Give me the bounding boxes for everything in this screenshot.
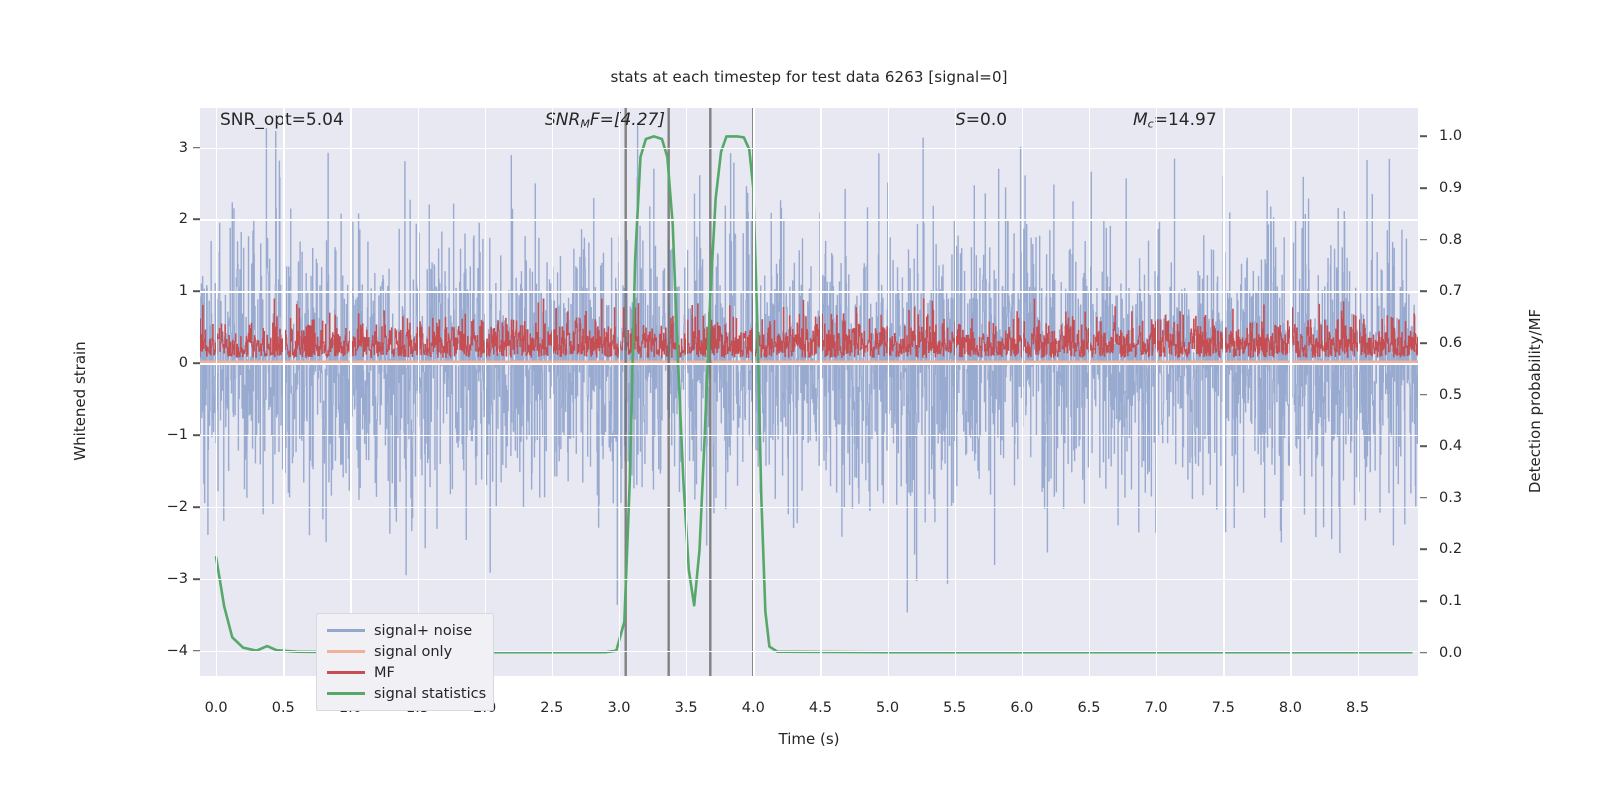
gridline-vertical [1156,108,1157,676]
x-axis-tick-label: 5.5 [943,700,966,716]
legend-swatch [327,629,365,631]
gridline-vertical [753,108,754,676]
x-axis-tick-label: 3.5 [675,700,698,716]
gridline-horizontal [200,219,1418,220]
x-axis-tick-label: 6.0 [1010,700,1033,716]
y-axis-right-tick-label: 0.8 [1439,232,1499,248]
y-axis-right-tick-label: 0.5 [1439,387,1499,403]
gridline-horizontal [200,148,1418,149]
y-axis-right-tick-label: 0.1 [1439,593,1499,609]
y-axis-left-tick-mark [193,147,200,149]
legend-label: MF [374,665,395,681]
gridline-vertical [485,108,486,676]
annotation-s-symbol: S [955,110,966,130]
y-axis-right-tick-label: 0.9 [1439,180,1499,196]
y-axis-right-tick-label: 0.0 [1439,645,1499,661]
y-axis-left-label: Whitened strain [71,271,89,531]
y-axis-right-tick-label: 0.7 [1439,283,1499,299]
y-axis-right-label: Detection probability/MF [1526,251,1544,551]
legend-item[interactable]: MF [317,662,493,683]
y-axis-left-tick-mark [193,650,200,652]
y-axis-left-tick-label: −3 [128,571,188,587]
x-axis-tick-label: 5.0 [876,700,899,716]
annotation-snr-mf-suffix: F=[4.27] [590,110,665,130]
y-axis-left-tick-label: 1 [128,283,188,299]
x-axis-tick-label: 7.5 [1212,700,1235,716]
y-axis-right-tick-mark [1420,136,1427,138]
x-axis-tick-label: 4.0 [742,700,765,716]
y-axis-right-tick-label: 0.6 [1439,335,1499,351]
plot-area: SNR_opt=5.04 SNRMF=[4.27] S=0.0 Mc=14.97 [200,108,1418,676]
x-axis-tick-label: 2.5 [540,700,563,716]
gridline-horizontal [200,579,1418,580]
legend-item[interactable]: signal statistics [317,683,493,704]
x-axis-tick-label: 8.5 [1346,700,1369,716]
y-axis-left-tick-mark [193,506,200,508]
y-axis-right-tick-mark [1420,445,1427,447]
y-axis-right-tick-label: 1.0 [1439,128,1499,144]
y-axis-right-tick-mark [1420,600,1427,602]
y-axis-right-tick-mark [1420,187,1427,189]
y-axis-left-tick-label: 0 [128,355,188,371]
y-axis-right-tick-label: 0.3 [1439,490,1499,506]
gridline-vertical [350,108,351,676]
y-axis-right-tick-label: 0.2 [1439,541,1499,557]
chart-title: stats at each timestep for test data 626… [200,68,1418,86]
x-axis-tick-label: 0.5 [272,700,295,716]
x-axis-label: Time (s) [200,730,1418,748]
y-axis-right-tick-mark [1420,652,1427,654]
annotation-mc: Mc=14.97 [1133,110,1217,130]
y-axis-left-tick-label: −4 [128,643,188,659]
legend-swatch [327,671,365,673]
y-axis-right-tick-mark [1420,394,1427,396]
annotation-s-value: =0.0 [966,110,1007,130]
y-axis-left-tick-mark [193,434,200,436]
y-axis-right-tick-label: 0.4 [1439,438,1499,454]
legend: signal+ noisesignal onlyMFsignal statist… [316,613,494,711]
gridline-horizontal [200,435,1418,436]
gridline-vertical [418,108,419,676]
y-axis-left-tick-label: −2 [128,499,188,515]
gridline-vertical [1022,108,1023,676]
x-axis-tick-label: 3.0 [607,700,630,716]
gridline-vertical [619,108,620,676]
gridline-vertical [216,108,217,676]
legend-swatch [327,692,365,694]
gridline-vertical [552,108,553,676]
x-axis-tick-label: 7.0 [1145,700,1168,716]
x-axis-tick-label: 8.0 [1279,700,1302,716]
gridline-vertical [820,108,821,676]
y-axis-left-tick-label: 2 [128,211,188,227]
y-axis-right-tick-mark [1420,291,1427,293]
y-axis-right-tick-mark [1420,342,1427,344]
x-axis-tick-label: 0.0 [205,700,228,716]
y-axis-left-tick-mark [193,291,200,293]
legend-label: signal statistics [374,686,486,702]
annotation-s: S=0.0 [955,110,1007,130]
y-axis-right-tick-mark [1420,497,1427,499]
y-axis-left-tick-mark [193,362,200,364]
figure-canvas: stats at each timestep for test data 626… [0,0,1600,800]
gridline-vertical [283,108,284,676]
x-axis-tick-label: 6.5 [1077,700,1100,716]
gridline-horizontal [200,291,1418,292]
gridline-horizontal [200,507,1418,508]
plot-svg [200,108,1418,676]
legend-label: signal+ noise [374,623,472,639]
gridline-vertical [686,108,687,676]
legend-label: signal only [374,644,452,660]
x-axis-tick-label: 4.5 [809,700,832,716]
gridline-vertical [1290,108,1291,676]
y-axis-right-tick-mark [1420,239,1427,241]
annotation-snr-opt: SNR_opt=5.04 [220,110,344,130]
annotation-snr-mf-prefix: SNR [545,110,580,130]
gridline-vertical [955,108,956,676]
legend-swatch [327,650,365,652]
gridline-horizontal [200,363,1418,364]
y-axis-right-tick-mark [1420,549,1427,551]
gridline-vertical [1358,108,1359,676]
annotation-snr-mf: SNRMF=[4.27] [545,110,665,130]
legend-item[interactable]: signal+ noise [317,620,493,641]
signal-plus-noise-path [200,126,1418,612]
gridline-vertical [1089,108,1090,676]
annotation-snr-mf-subscript: M [580,117,590,130]
legend-item[interactable]: signal only [317,641,493,662]
series-signal-plus-noise [200,126,1418,612]
y-axis-left-tick-mark [193,578,200,580]
annotation-mc-value: =14.97 [1154,110,1217,130]
annotation-mc-symbol: M [1133,110,1148,130]
y-axis-left-tick-label: 3 [128,140,188,156]
gridline-vertical [1223,108,1224,676]
y-axis-left-tick-label: −1 [128,427,188,443]
gridline-vertical [888,108,889,676]
y-axis-left-tick-mark [193,219,200,221]
